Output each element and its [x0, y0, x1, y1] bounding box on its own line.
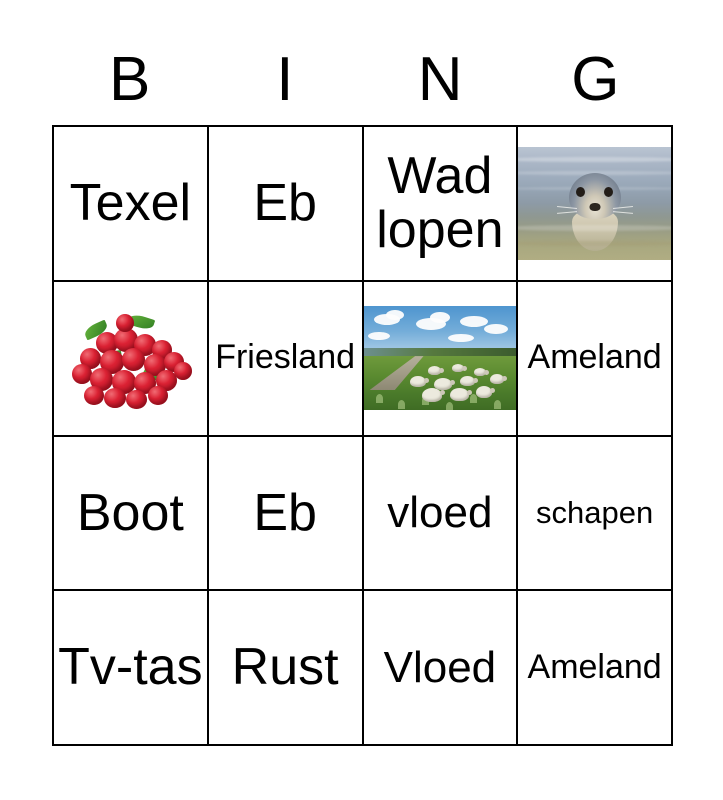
bingo-cell[interactable]: Tv-tas	[54, 591, 209, 746]
header-letter-n: N	[363, 42, 518, 118]
bingo-cell-label: vloed	[364, 490, 517, 536]
seal-photo	[518, 147, 671, 260]
bingo-cell[interactable]	[54, 282, 209, 437]
bingo-cell-label: Texel	[54, 176, 207, 231]
bingo-cell[interactable]: Friesland	[209, 282, 364, 437]
bingo-grid: Texel Eb Wad lopen	[52, 125, 673, 746]
bingo-cell[interactable]: Texel	[54, 127, 209, 282]
bingo-cell[interactable]	[364, 282, 519, 437]
bingo-cell-label: Tv-tas	[54, 640, 207, 695]
bingo-cell-label: Wad lopen	[364, 149, 517, 258]
bingo-header: B I N G	[52, 42, 673, 118]
bingo-cell-image-cranberries	[54, 282, 207, 435]
cranberries-photo	[56, 294, 204, 422]
bingo-cell[interactable]: Rust	[209, 591, 364, 746]
bingo-cell-label: Boot	[54, 486, 207, 541]
header-letter-g: G	[518, 42, 673, 118]
bingo-cell[interactable]: Eb	[209, 437, 364, 592]
bingo-card: B I N G Texel Eb Wad lopen	[0, 0, 723, 800]
bingo-cell-label: Rust	[209, 640, 362, 695]
bingo-cell[interactable]: Boot	[54, 437, 209, 592]
bingo-cell-label: schapen	[518, 497, 671, 530]
bingo-cell-label: Eb	[209, 486, 362, 541]
sheep-on-dike-photo	[364, 306, 517, 410]
header-letter-b: B	[52, 42, 207, 118]
bingo-cell[interactable]: Ameland	[518, 591, 673, 746]
bingo-cell[interactable]: Ameland	[518, 282, 673, 437]
bingo-cell[interactable]: Eb	[209, 127, 364, 282]
bingo-cell[interactable]: schapen	[518, 437, 673, 592]
header-letter-i: I	[207, 42, 362, 118]
bingo-cell-label: Vloed	[364, 645, 517, 691]
bingo-cell[interactable]: vloed	[364, 437, 519, 592]
bingo-cell[interactable]	[518, 127, 673, 282]
bingo-cell-label: Eb	[209, 176, 362, 231]
bingo-cell[interactable]: Vloed	[364, 591, 519, 746]
bingo-cell[interactable]: Wad lopen	[364, 127, 519, 282]
bingo-cell-label: Ameland	[518, 340, 671, 376]
bingo-cell-image-seal	[518, 127, 671, 280]
bingo-cell-label: Friesland	[209, 340, 362, 376]
bingo-cell-image-sheep	[364, 282, 517, 435]
bingo-cell-label: Ameland	[518, 650, 671, 686]
